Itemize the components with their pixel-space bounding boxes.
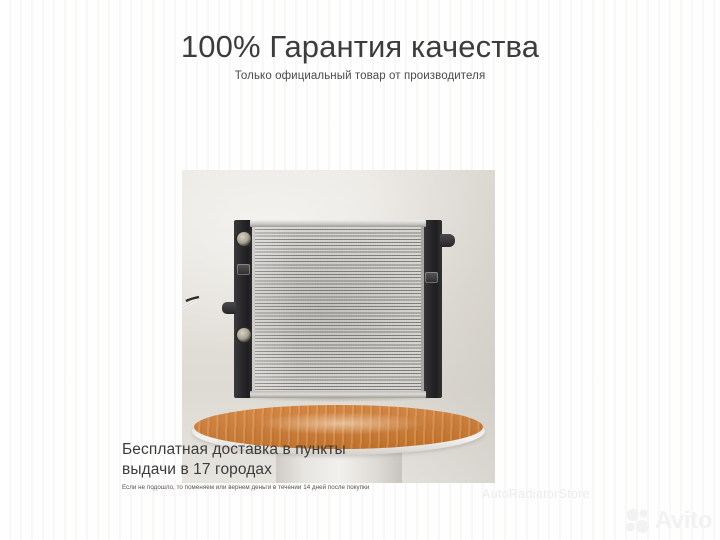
promo-heading-line-1: Бесплатная доставка в пункты xyxy=(122,440,522,460)
page-subtitle: Только официальный товар от производител… xyxy=(0,68,720,84)
radiator-bushing-top-left xyxy=(237,232,251,246)
table-gloss xyxy=(258,412,426,435)
avito-wordmark: Avito xyxy=(655,509,712,533)
promo-block: Бесплатная доставка в пункты выдачи в 17… xyxy=(122,440,522,492)
radiator-top-rail xyxy=(250,220,426,227)
radiator-core xyxy=(252,224,424,394)
radiator-bottom-rail xyxy=(250,391,426,398)
avito-dots-icon xyxy=(625,508,651,534)
promo-fine-print: Если не подошло, то поменяем или вернем … xyxy=(122,483,522,492)
radiator-core-shading xyxy=(255,226,421,392)
header-block: 100% Гарантия качества Только официальны… xyxy=(0,28,720,84)
radiator-mount-left xyxy=(237,264,250,275)
avito-logo: Avito xyxy=(625,508,712,534)
radiator-outlet-hose-neck xyxy=(440,234,455,247)
radiator-inlet-hose-neck xyxy=(222,302,236,314)
page-title: 100% Гарантия качества xyxy=(0,28,720,66)
store-watermark: AutoRadiatorStore xyxy=(482,487,590,501)
radiator-right-tank xyxy=(422,220,442,398)
radiator-bushing-bottom-left xyxy=(237,328,251,342)
promo-image-canvas: 100% Гарантия качества Только официальны… xyxy=(0,0,720,540)
product-photo xyxy=(182,170,495,483)
radiator-left-tank xyxy=(234,220,254,398)
radiator-mount-right xyxy=(425,272,438,283)
radiator xyxy=(234,220,442,398)
promo-heading-line-2: выдачи в 17 городах xyxy=(122,460,522,480)
